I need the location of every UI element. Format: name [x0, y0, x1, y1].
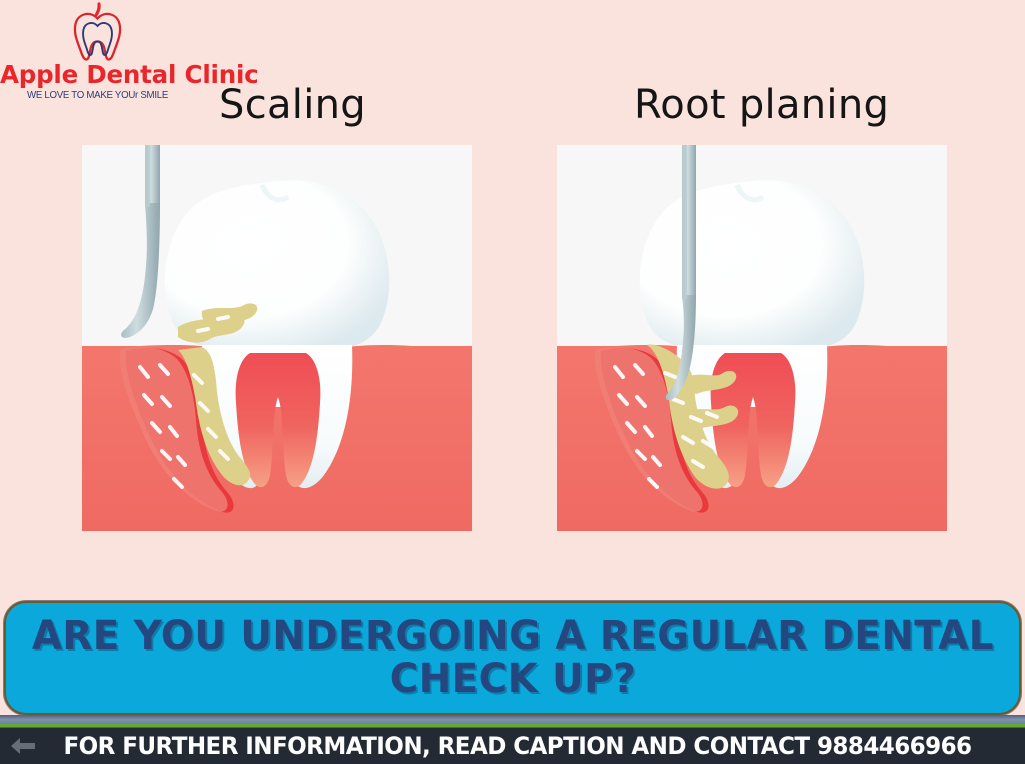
- illustration-root-planing: [557, 145, 947, 531]
- cta-banner: ARE YOU UNDERGOING A REGULAR DENTAL CHEC…: [4, 601, 1021, 715]
- clinic-tagline: WE LOVE TO MAKE YOUr SMILE: [5, 90, 190, 101]
- tooth-scaling-illustration: [82, 145, 472, 531]
- panel-title-root-planing: Root planing: [634, 82, 889, 128]
- cta-line-1: ARE YOU UNDERGOING A REGULAR DENTAL: [31, 613, 993, 659]
- panel-title-scaling: Scaling: [219, 82, 366, 128]
- tooth-apple-icon: [66, 2, 130, 64]
- cta-line-2: CHECK UP?: [389, 656, 635, 702]
- bottom-caption-text: FOR FURTHER INFORMATION, READ CAPTION AN…: [57, 732, 978, 760]
- tooth-root-planing-illustration: [557, 145, 947, 531]
- dental-clinic-poster: Apple Dental Clinic WE LOVE TO MAKE YOUr…: [0, 0, 1025, 764]
- cta-text: ARE YOU UNDERGOING A REGULAR DENTAL CHEC…: [31, 615, 993, 701]
- illustration-scaling: [82, 145, 472, 531]
- bottom-caption-bar: FOR FURTHER INFORMATION, READ CAPTION AN…: [0, 727, 1025, 764]
- clinic-name: Apple Dental Clinic: [0, 62, 195, 88]
- arrow-left-icon[interactable]: [8, 735, 38, 757]
- clinic-logo: Apple Dental Clinic WE LOVE TO MAKE YOUr…: [0, 2, 195, 114]
